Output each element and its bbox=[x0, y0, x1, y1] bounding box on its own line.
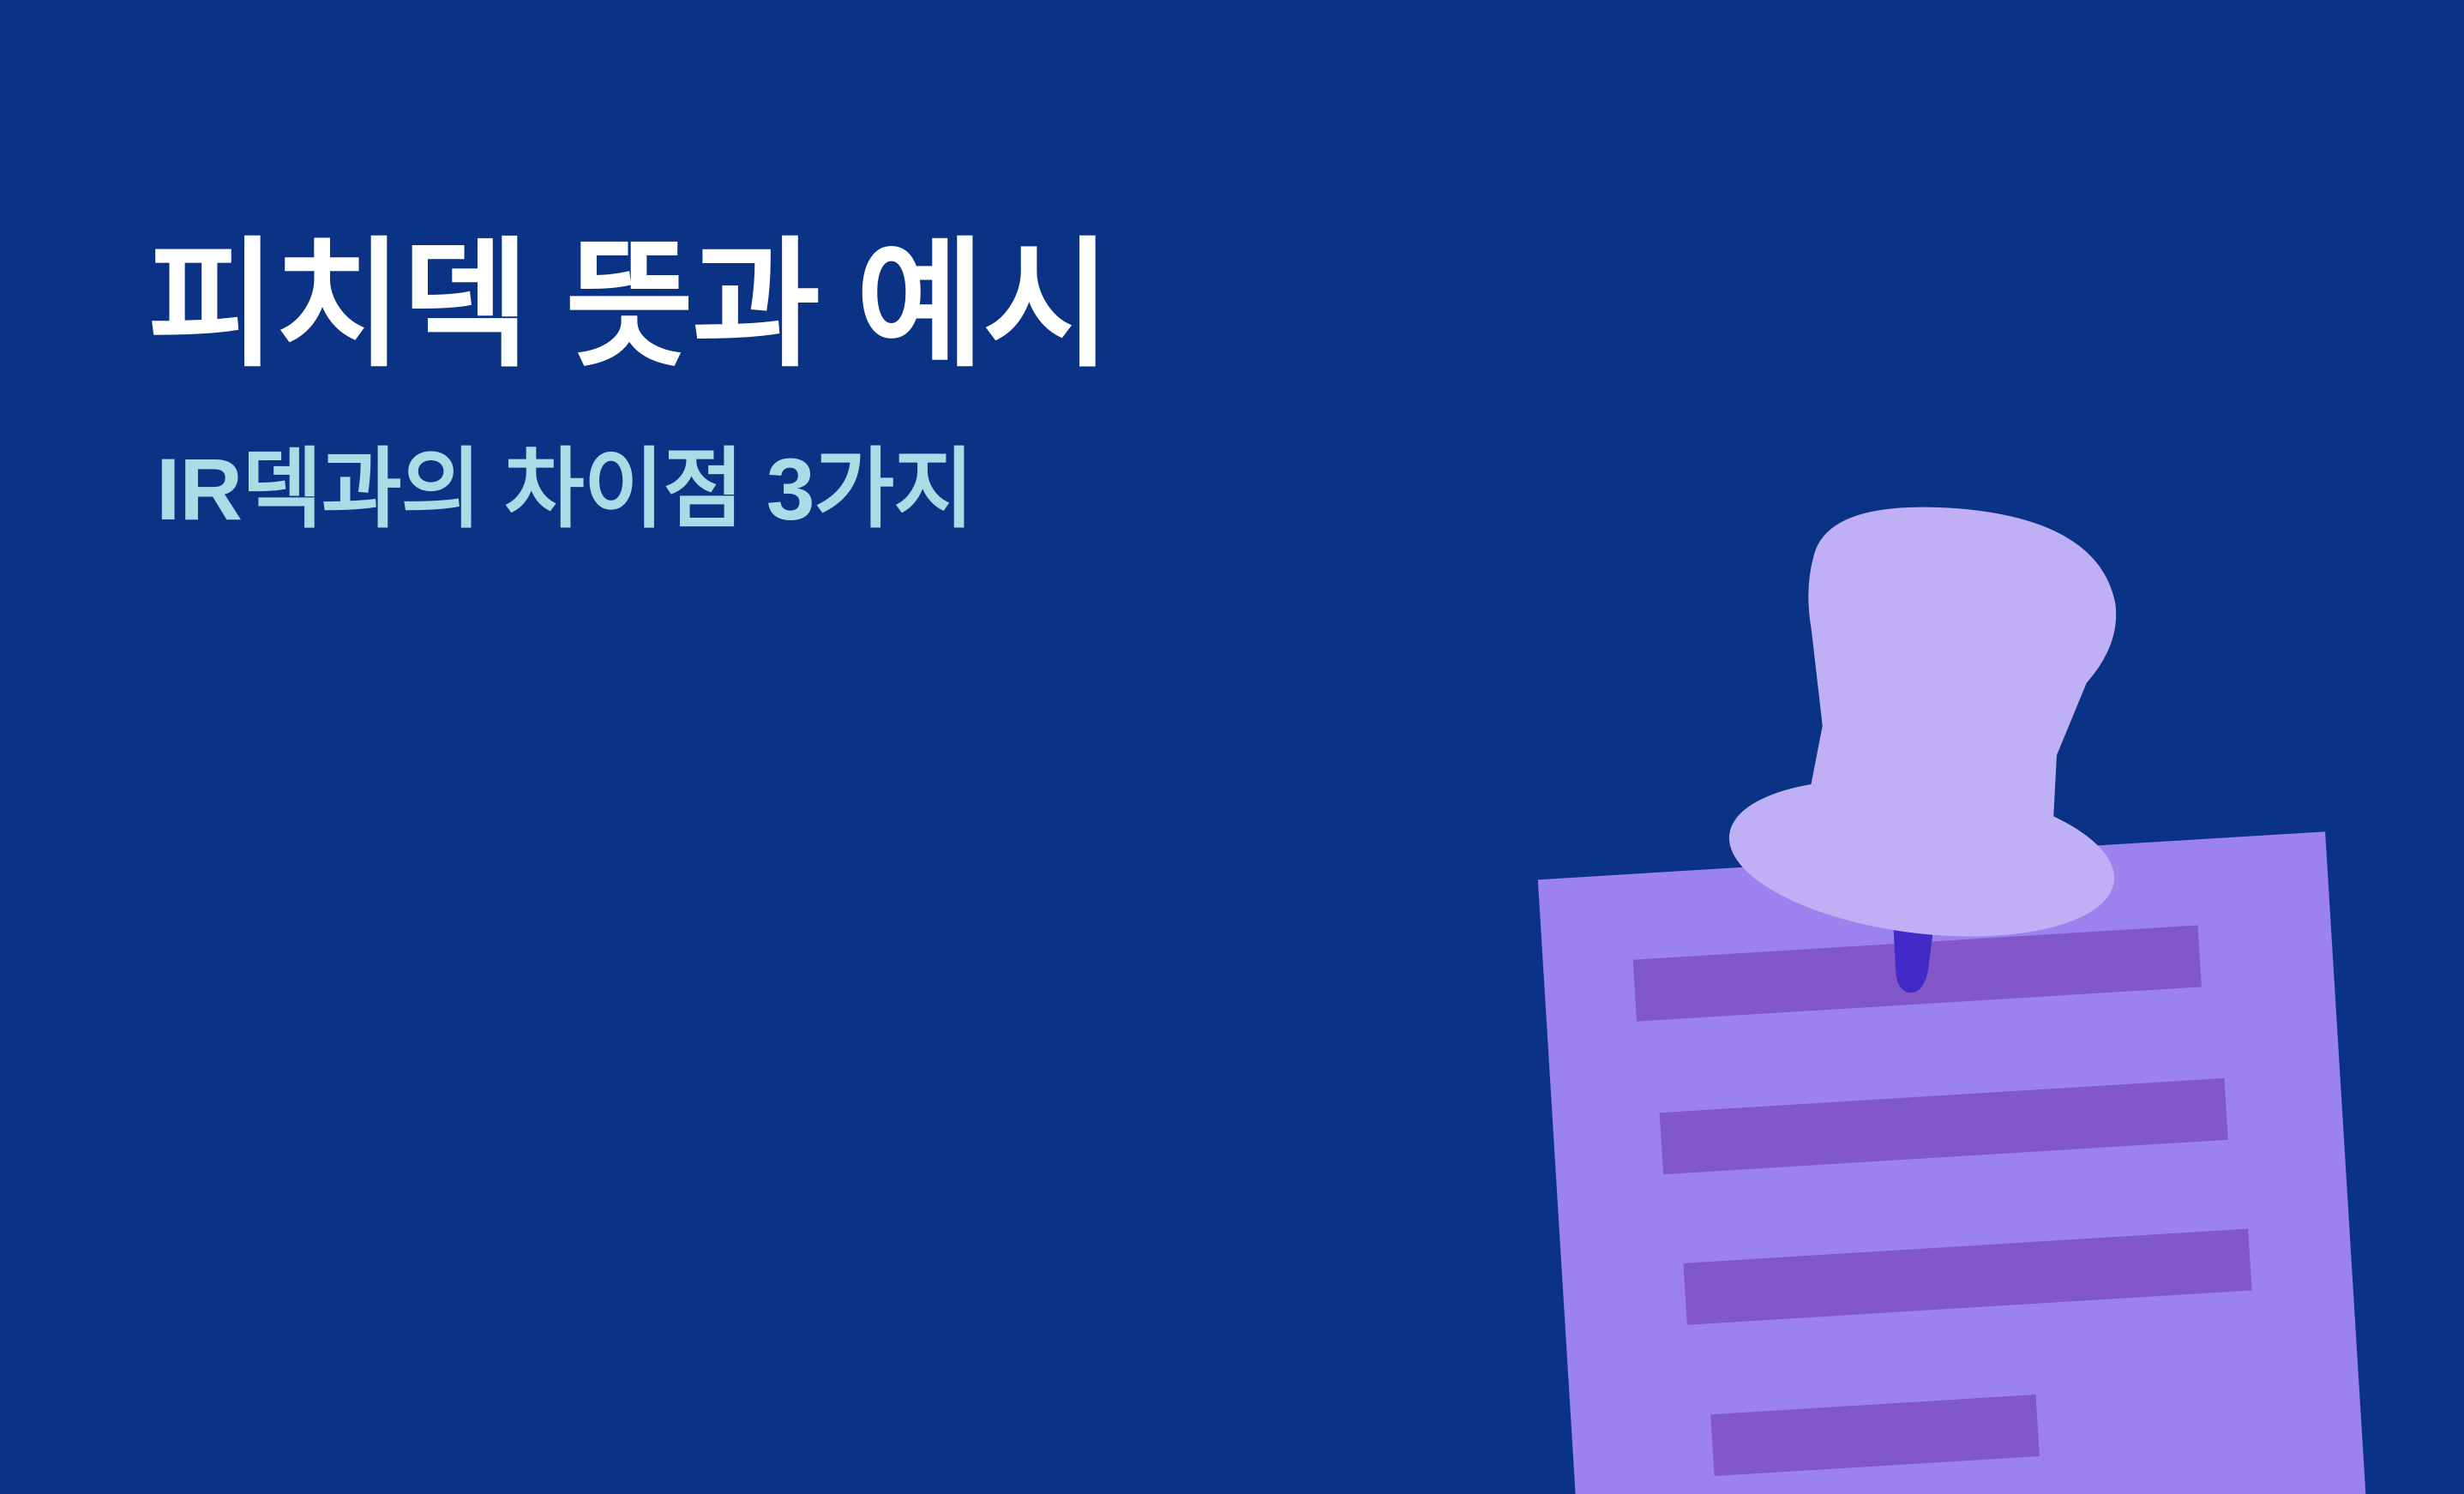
page-subtitle: IR덱과의 차이점 3가지 bbox=[156, 437, 1519, 542]
pinned-note-illustration bbox=[1457, 463, 2464, 1494]
slide-canvas: 피치덱 뜻과 예시 IR덱과의 차이점 3가지 bbox=[0, 0, 2464, 1494]
page-title: 피치덱 뜻과 예시 bbox=[147, 223, 1519, 387]
heading-block: 피치덱 뜻과 예시 IR덱과의 차이점 3가지 bbox=[147, 223, 1519, 543]
pushpin-head-group bbox=[1720, 485, 2156, 957]
